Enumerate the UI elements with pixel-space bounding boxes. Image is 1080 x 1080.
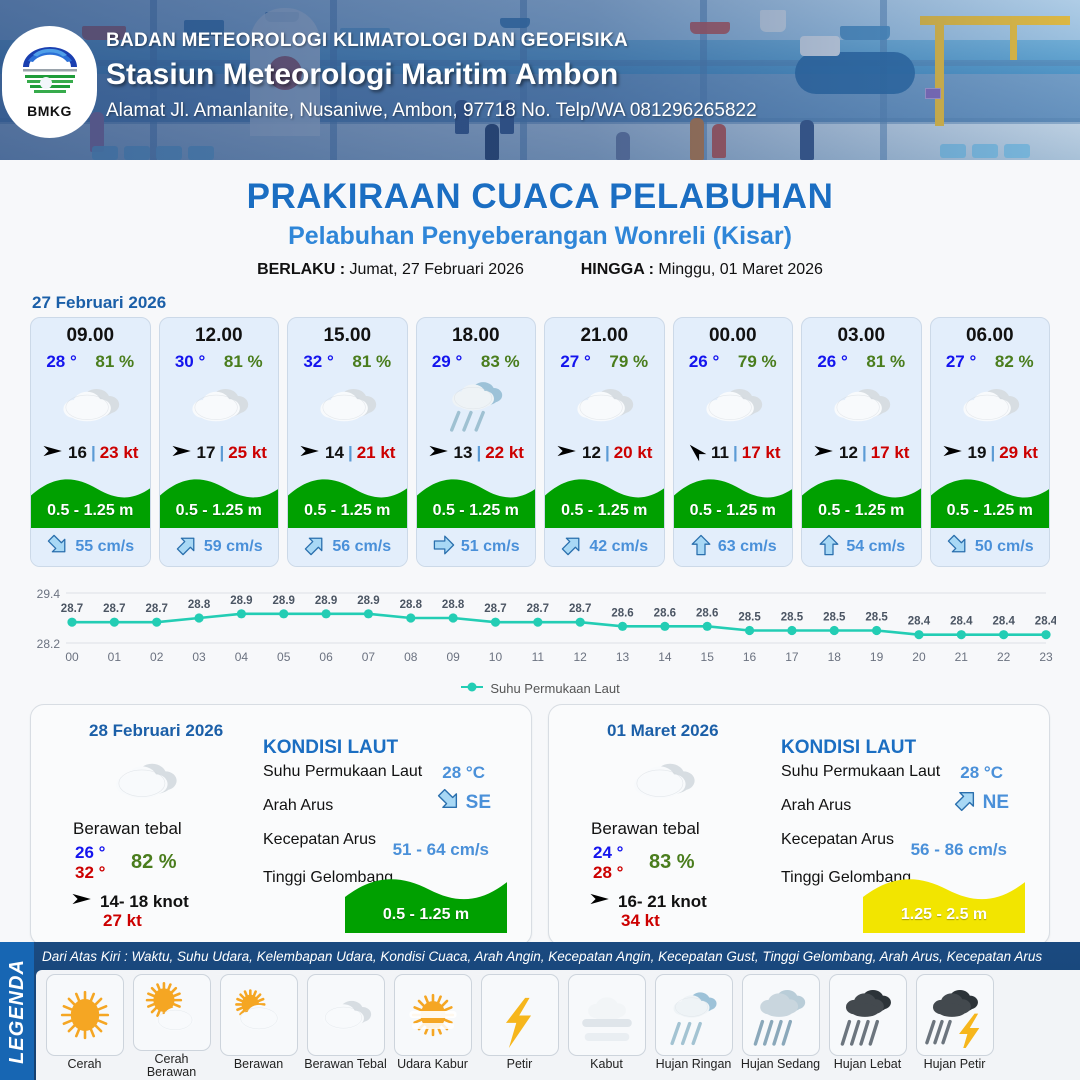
berlaku-label: BERLAKU : xyxy=(257,261,345,278)
legend-items: Cerah Cerah Berawan Berawan Berawan Teba… xyxy=(36,970,1080,1080)
panel-current-direction: SE xyxy=(436,787,491,819)
validity-period: BERLAKU : Jumat, 27 Februari 2026 HINGGA… xyxy=(0,261,1080,279)
svg-text:03: 03 xyxy=(192,650,206,664)
wind-direction-arrow-icon xyxy=(171,440,193,467)
panel-humidity: 82 % xyxy=(131,851,177,874)
svg-text:28.5: 28.5 xyxy=(738,612,761,624)
card-gust: 21 kt xyxy=(357,443,396,463)
svg-text:28.7: 28.7 xyxy=(146,603,168,615)
legend-item-label: Hujan Sedang xyxy=(741,1058,820,1072)
svg-text:28.4: 28.4 xyxy=(992,616,1015,628)
panel-current-direction: NE xyxy=(953,787,1009,819)
legend-icon-hujan-sedang xyxy=(742,974,820,1056)
chart-legend-marker xyxy=(460,681,484,696)
panel-current-dir-label: SE xyxy=(466,792,491,814)
legend-item-label: Hujan Lebat xyxy=(834,1058,901,1072)
card-time: 00.00 xyxy=(674,325,793,347)
page-subtitle: Pelabuhan Penyeberangan Wonreli (Kisar) xyxy=(0,222,1080,251)
card-wind-speed: 16 xyxy=(68,443,87,463)
wind-direction-arrow-icon xyxy=(42,440,64,467)
card-weather-icon xyxy=(674,374,793,436)
daily-summary-panel[interactable]: 01 Maret 2026 Berawan tebal 24 ° 28 ° 83… xyxy=(548,704,1050,946)
panel-current-dir-label: NE xyxy=(983,792,1009,814)
card-wave-height: 0.5 - 1.25 m xyxy=(545,502,664,520)
card-wave-height: 0.5 - 1.25 m xyxy=(802,502,921,520)
svg-text:28.7: 28.7 xyxy=(527,603,549,615)
daily-summary-row: 28 Februari 2026 Berawan tebal 26 ° 32 °… xyxy=(0,696,1080,946)
legend-item: Berawan Tebal xyxy=(303,974,388,1080)
forecast-card[interactable]: 15.00 32 ° 81 % 14 | 21 kt 0.5 - 1.25 m xyxy=(287,317,408,567)
wind-direction-arrow-icon xyxy=(942,440,964,467)
card-humidity: 79 % xyxy=(609,352,648,372)
svg-text:17: 17 xyxy=(785,650,799,664)
card-weather-icon xyxy=(160,374,279,436)
legend-item: Petir xyxy=(477,974,562,1080)
svg-text:19: 19 xyxy=(870,650,884,664)
legend-item-label: Kabut xyxy=(590,1058,623,1072)
legend-item: Cerah Berawan xyxy=(129,974,214,1080)
panel-temp-max: 28 ° xyxy=(593,863,623,883)
card-gust: 17 kt xyxy=(742,443,781,463)
legend-side-text: LEGENDA xyxy=(6,959,29,1064)
panel-sea-title: KONDISI LAUT xyxy=(263,737,398,759)
card-wave-height: 0.5 - 1.25 m xyxy=(288,502,407,520)
current-direction-arrow-icon xyxy=(817,533,841,562)
station-address: Alamat Jl. Amanlanite, Nusaniwe, Ambon, … xyxy=(106,100,757,122)
card-time: 12.00 xyxy=(160,325,279,347)
current-direction-arrow-icon xyxy=(946,533,970,562)
svg-text:28.9: 28.9 xyxy=(230,595,252,607)
legend-item: Berawan xyxy=(216,974,301,1080)
panel-current-speed-value: 51 - 64 cm/s xyxy=(393,840,489,860)
bmkg-logo-text: BMKG xyxy=(27,103,72,119)
svg-text:18: 18 xyxy=(828,650,842,664)
panel-label-current-speed: Kecepatan Arus xyxy=(263,831,376,849)
svg-text:28.4: 28.4 xyxy=(950,616,973,628)
panel-wind-range: 16- 21 knot xyxy=(618,892,707,912)
wind-direction-arrow-icon xyxy=(299,440,321,467)
svg-text:28.7: 28.7 xyxy=(484,603,506,615)
card-wind-speed: 11 xyxy=(711,443,729,463)
card-weather-icon xyxy=(931,374,1050,436)
card-temperature: 27 ° xyxy=(946,352,976,372)
forecast-card[interactable]: 21.00 27 ° 79 % 12 | 20 kt 0.5 - 1.25 m xyxy=(544,317,665,567)
hingga-label: HINGGA : xyxy=(581,261,654,278)
panel-date: 28 Februari 2026 xyxy=(89,721,223,741)
legend-icon-cerah xyxy=(46,974,124,1056)
legend-item: Udara Kabur xyxy=(390,974,475,1080)
current-direction-arrow-icon xyxy=(689,533,713,562)
svg-text:28.8: 28.8 xyxy=(188,599,211,611)
chart-legend: Suhu Permukaan Laut xyxy=(0,681,1080,696)
card-wave-block: 0.5 - 1.25 m xyxy=(931,472,1050,528)
page-header: BMKG BADAN METEOROLOGI KLIMATOLOGI DAN G… xyxy=(0,0,1080,160)
panel-label-current-dir: Arah Arus xyxy=(263,797,333,815)
title-block: PRAKIRAAN CUACA PELABUHAN Pelabuhan Peny… xyxy=(0,177,1080,279)
panel-condition: Berawan tebal xyxy=(591,819,700,839)
svg-text:28.4: 28.4 xyxy=(1035,616,1056,628)
card-separator: | xyxy=(605,443,610,463)
wind-direction-arrow-icon xyxy=(685,440,707,467)
current-direction-arrow-icon xyxy=(432,533,456,562)
card-temperature: 26 ° xyxy=(689,352,719,372)
legend-item: Hujan Ringan xyxy=(651,974,736,1080)
card-temperature: 27 ° xyxy=(560,352,590,372)
card-current-speed: 59 cm/s xyxy=(204,538,263,556)
legend-icon-hujan-ringan xyxy=(655,974,733,1056)
panel-wave-block: 1.25 - 2.5 m xyxy=(863,871,1025,933)
card-humidity: 79 % xyxy=(738,352,777,372)
card-gust: 17 kt xyxy=(871,443,910,463)
svg-text:20: 20 xyxy=(912,650,926,664)
forecast-card[interactable]: 06.00 27 ° 82 % 19 | 29 kt 0.5 - 1.25 m xyxy=(930,317,1051,567)
legend-item-label: Cerah Berawan xyxy=(129,1053,214,1080)
header-text-block: BADAN METEOROLOGI KLIMATOLOGI DAN GEOFIS… xyxy=(106,30,757,122)
svg-text:21: 21 xyxy=(955,650,969,664)
forecast-date-label: 27 Februari 2026 xyxy=(32,293,1080,313)
bmkg-logo: BMKG xyxy=(2,26,97,138)
card-current-speed: 55 cm/s xyxy=(75,538,134,556)
svg-text:06: 06 xyxy=(319,650,333,664)
card-temperature: 29 ° xyxy=(432,352,462,372)
station-name: Stasiun Meteorologi Maritim Ambon xyxy=(106,58,757,92)
card-wave-height: 0.5 - 1.25 m xyxy=(160,502,279,520)
card-humidity: 81 % xyxy=(95,352,134,372)
svg-text:28.4: 28.4 xyxy=(908,616,931,628)
wind-direction-arrow-icon xyxy=(589,888,611,915)
panel-sst-value: 28 °C xyxy=(442,763,485,783)
card-wind-speed: 12 xyxy=(839,443,858,463)
card-separator: | xyxy=(476,443,481,463)
card-wave-block: 0.5 - 1.25 m xyxy=(545,472,664,528)
legend-item-label: Cerah xyxy=(67,1058,101,1072)
panel-gust: 27 kt xyxy=(103,911,142,931)
card-wind-speed: 13 xyxy=(454,443,473,463)
card-temperature: 26 ° xyxy=(817,352,847,372)
card-wave-block: 0.5 - 1.25 m xyxy=(417,472,536,528)
card-wind-speed: 12 xyxy=(582,443,601,463)
card-humidity: 81 % xyxy=(352,352,391,372)
legend-item: Kabut xyxy=(564,974,649,1080)
panel-wave-block: 0.5 - 1.25 m xyxy=(345,871,507,933)
panel-current-speed-value: 56 - 86 cm/s xyxy=(911,840,1007,860)
legend-item: Hujan Sedang xyxy=(738,974,823,1080)
card-humidity: 82 % xyxy=(995,352,1034,372)
svg-text:28.5: 28.5 xyxy=(781,612,804,624)
legend-icon-hujan-lebat xyxy=(829,974,907,1056)
card-humidity: 81 % xyxy=(866,352,905,372)
card-current-speed: 50 cm/s xyxy=(975,538,1034,556)
bmkg-logo-mark xyxy=(19,45,81,101)
card-wave-block: 0.5 - 1.25 m xyxy=(674,472,793,528)
berlaku-value: Jumat, 27 Februari 2026 xyxy=(350,261,524,278)
card-wave-block: 0.5 - 1.25 m xyxy=(160,472,279,528)
svg-text:23: 23 xyxy=(1039,650,1053,664)
svg-text:28.9: 28.9 xyxy=(315,595,337,607)
wind-direction-arrow-icon xyxy=(813,440,835,467)
card-wave-block: 0.5 - 1.25 m xyxy=(802,472,921,528)
legend-item: Cerah xyxy=(42,974,127,1080)
panel-label-current-speed: Kecepatan Arus xyxy=(781,831,894,849)
panel-humidity: 83 % xyxy=(649,851,695,874)
legend-icon-cerah-berawan xyxy=(133,974,211,1051)
panel-wave-height: 1.25 - 2.5 m xyxy=(863,906,1025,924)
card-wave-block: 0.5 - 1.25 m xyxy=(31,472,150,528)
legend-item-label: Hujan Ringan xyxy=(656,1058,732,1072)
card-weather-icon xyxy=(417,374,536,436)
svg-text:28.6: 28.6 xyxy=(611,607,633,619)
card-current-speed: 51 cm/s xyxy=(461,538,520,556)
panel-weather-icon xyxy=(106,753,184,814)
panel-temp-max: 32 ° xyxy=(75,863,105,883)
svg-text:13: 13 xyxy=(616,650,630,664)
card-current-speed: 63 cm/s xyxy=(718,538,777,556)
card-gust: 22 kt xyxy=(485,443,524,463)
card-separator: | xyxy=(862,443,867,463)
panel-weather-icon xyxy=(624,753,702,814)
card-time: 15.00 xyxy=(288,325,407,347)
legend-icon-petir xyxy=(481,974,559,1056)
current-direction-arrow-icon xyxy=(436,787,462,819)
svg-text:29.4: 29.4 xyxy=(37,587,61,601)
svg-text:28.7: 28.7 xyxy=(569,603,591,615)
svg-text:12: 12 xyxy=(573,650,587,664)
hingga-value: Minggu, 01 Maret 2026 xyxy=(658,261,823,278)
svg-text:14: 14 xyxy=(658,650,672,664)
svg-text:28.7: 28.7 xyxy=(61,603,83,615)
svg-text:28.6: 28.6 xyxy=(654,607,676,619)
panel-temp-min: 26 ° xyxy=(75,843,105,863)
panel-wind-range: 14- 18 knot xyxy=(100,892,189,912)
svg-text:28.9: 28.9 xyxy=(273,595,295,607)
svg-text:28.2: 28.2 xyxy=(37,637,61,651)
svg-text:28.5: 28.5 xyxy=(865,612,888,624)
wind-direction-arrow-icon xyxy=(428,440,450,467)
daily-summary-panel[interactable]: 28 Februari 2026 Berawan tebal 26 ° 32 °… xyxy=(30,704,532,946)
forecast-card[interactable]: 00.00 26 ° 79 % 11 | 17 kt 0.5 - 1.25 m xyxy=(673,317,794,567)
forecast-card[interactable]: 18.00 29 ° 83 % 13 | 22 kt 0.5 - 1.25 m xyxy=(416,317,537,567)
legend-item: Hujan Petir xyxy=(912,974,997,1080)
card-wave-height: 0.5 - 1.25 m xyxy=(31,502,150,520)
svg-text:15: 15 xyxy=(701,650,715,664)
forecast-card[interactable]: 12.00 30 ° 81 % 17 | 25 kt 0.5 - 1.25 m xyxy=(159,317,280,567)
panel-temp-min: 24 ° xyxy=(593,843,623,863)
svg-text:11: 11 xyxy=(532,650,545,664)
svg-text:01: 01 xyxy=(108,650,122,664)
legend-strip: LEGENDA Dari Atas Kiri : Waktu, Suhu Uda… xyxy=(0,942,1080,1080)
legend-item-label: Udara Kabur xyxy=(397,1058,468,1072)
card-gust: 29 kt xyxy=(999,443,1038,463)
legend-icon-berawan xyxy=(220,974,298,1056)
legend-item-label: Berawan Tebal xyxy=(304,1058,386,1072)
legend-item-label: Berawan xyxy=(234,1058,283,1072)
panel-sst-value: 28 °C xyxy=(960,763,1003,783)
svg-text:00: 00 xyxy=(65,650,79,664)
svg-text:22: 22 xyxy=(997,650,1011,664)
hourly-forecast-row: 09.00 28 ° 81 % 16 | 23 kt 0.5 - 1.25 m xyxy=(0,317,1080,567)
legend-icon-kabut xyxy=(568,974,646,1056)
card-time: 06.00 xyxy=(931,325,1050,347)
svg-text:16: 16 xyxy=(743,650,757,664)
agency-name: BADAN METEOROLOGI KLIMATOLOGI DAN GEOFIS… xyxy=(106,30,757,52)
card-separator: | xyxy=(990,443,995,463)
legend-icon-hujan-petir xyxy=(916,974,994,1056)
svg-text:28.6: 28.6 xyxy=(696,607,718,619)
legend-note: Dari Atas Kiri : Waktu, Suhu Udara, Kele… xyxy=(42,949,1042,964)
current-direction-arrow-icon xyxy=(46,533,70,562)
card-weather-icon xyxy=(545,374,664,436)
panel-label-current-dir: Arah Arus xyxy=(781,797,851,815)
sst-chart: 29.428.228.70028.70128.70228.80328.90428… xyxy=(24,579,1056,679)
svg-text:10: 10 xyxy=(489,650,503,664)
card-gust: 20 kt xyxy=(614,443,653,463)
card-time: 09.00 xyxy=(31,325,150,347)
legend-item: Hujan Lebat xyxy=(825,974,910,1080)
card-separator: | xyxy=(348,443,353,463)
card-temperature: 28 ° xyxy=(46,352,76,372)
svg-text:28.8: 28.8 xyxy=(442,599,465,611)
svg-text:02: 02 xyxy=(150,650,164,664)
wind-direction-arrow-icon xyxy=(71,888,93,915)
card-current-speed: 42 cm/s xyxy=(589,538,648,556)
panel-label-sst: Suhu Permukaan Laut xyxy=(781,763,940,781)
card-weather-icon xyxy=(802,374,921,436)
legend-icon-berawan-tebal xyxy=(307,974,385,1056)
card-gust: 23 kt xyxy=(100,443,139,463)
card-wind-speed: 17 xyxy=(197,443,216,463)
panel-condition: Berawan tebal xyxy=(73,819,182,839)
card-separator: | xyxy=(219,443,224,463)
card-current-speed: 56 cm/s xyxy=(332,538,391,556)
card-humidity: 81 % xyxy=(224,352,263,372)
card-time: 21.00 xyxy=(545,325,664,347)
card-wave-height: 0.5 - 1.25 m xyxy=(674,502,793,520)
chart-legend-label: Suhu Permukaan Laut xyxy=(490,681,619,696)
card-separator: | xyxy=(91,443,96,463)
current-direction-arrow-icon xyxy=(953,787,979,819)
svg-text:07: 07 xyxy=(362,650,376,664)
forecast-card[interactable]: 03.00 26 ° 81 % 12 | 17 kt 0.5 - 1.25 m xyxy=(801,317,922,567)
current-direction-arrow-icon xyxy=(560,533,584,562)
current-direction-arrow-icon xyxy=(303,533,327,562)
card-wind-speed: 14 xyxy=(325,443,344,463)
card-current-speed: 54 cm/s xyxy=(846,538,905,556)
card-gust: 25 kt xyxy=(228,443,267,463)
legend-icon-udara-kabur xyxy=(394,974,472,1056)
card-wave-block: 0.5 - 1.25 m xyxy=(288,472,407,528)
panel-sea-title: KONDISI LAUT xyxy=(781,737,916,759)
card-wave-height: 0.5 - 1.25 m xyxy=(931,502,1050,520)
svg-text:08: 08 xyxy=(404,650,418,664)
legend-side-label: LEGENDA xyxy=(0,942,34,1080)
card-temperature: 32 ° xyxy=(303,352,333,372)
svg-text:28.8: 28.8 xyxy=(400,599,423,611)
svg-text:28.9: 28.9 xyxy=(357,595,379,607)
svg-text:09: 09 xyxy=(446,650,460,664)
card-separator: | xyxy=(733,443,738,463)
card-wind-speed: 19 xyxy=(968,443,987,463)
legend-item-label: Hujan Petir xyxy=(924,1058,986,1072)
svg-text:05: 05 xyxy=(277,650,291,664)
forecast-card[interactable]: 09.00 28 ° 81 % 16 | 23 kt 0.5 - 1.25 m xyxy=(30,317,151,567)
panel-gust: 34 kt xyxy=(621,911,660,931)
card-humidity: 83 % xyxy=(481,352,520,372)
card-time: 03.00 xyxy=(802,325,921,347)
svg-text:28.5: 28.5 xyxy=(823,612,846,624)
panel-label-sst: Suhu Permukaan Laut xyxy=(263,763,422,781)
wind-direction-arrow-icon xyxy=(556,440,578,467)
page-title: PRAKIRAAN CUACA PELABUHAN xyxy=(0,177,1080,217)
current-direction-arrow-icon xyxy=(175,533,199,562)
svg-text:28.7: 28.7 xyxy=(103,603,125,615)
svg-text:04: 04 xyxy=(235,650,249,664)
legend-item-label: Petir xyxy=(507,1058,533,1072)
panel-wave-height: 0.5 - 1.25 m xyxy=(345,906,507,924)
card-temperature: 30 ° xyxy=(175,352,205,372)
panel-date: 01 Maret 2026 xyxy=(607,721,719,741)
card-weather-icon xyxy=(31,374,150,436)
card-time: 18.00 xyxy=(417,325,536,347)
card-wave-height: 0.5 - 1.25 m xyxy=(417,502,536,520)
card-weather-icon xyxy=(288,374,407,436)
